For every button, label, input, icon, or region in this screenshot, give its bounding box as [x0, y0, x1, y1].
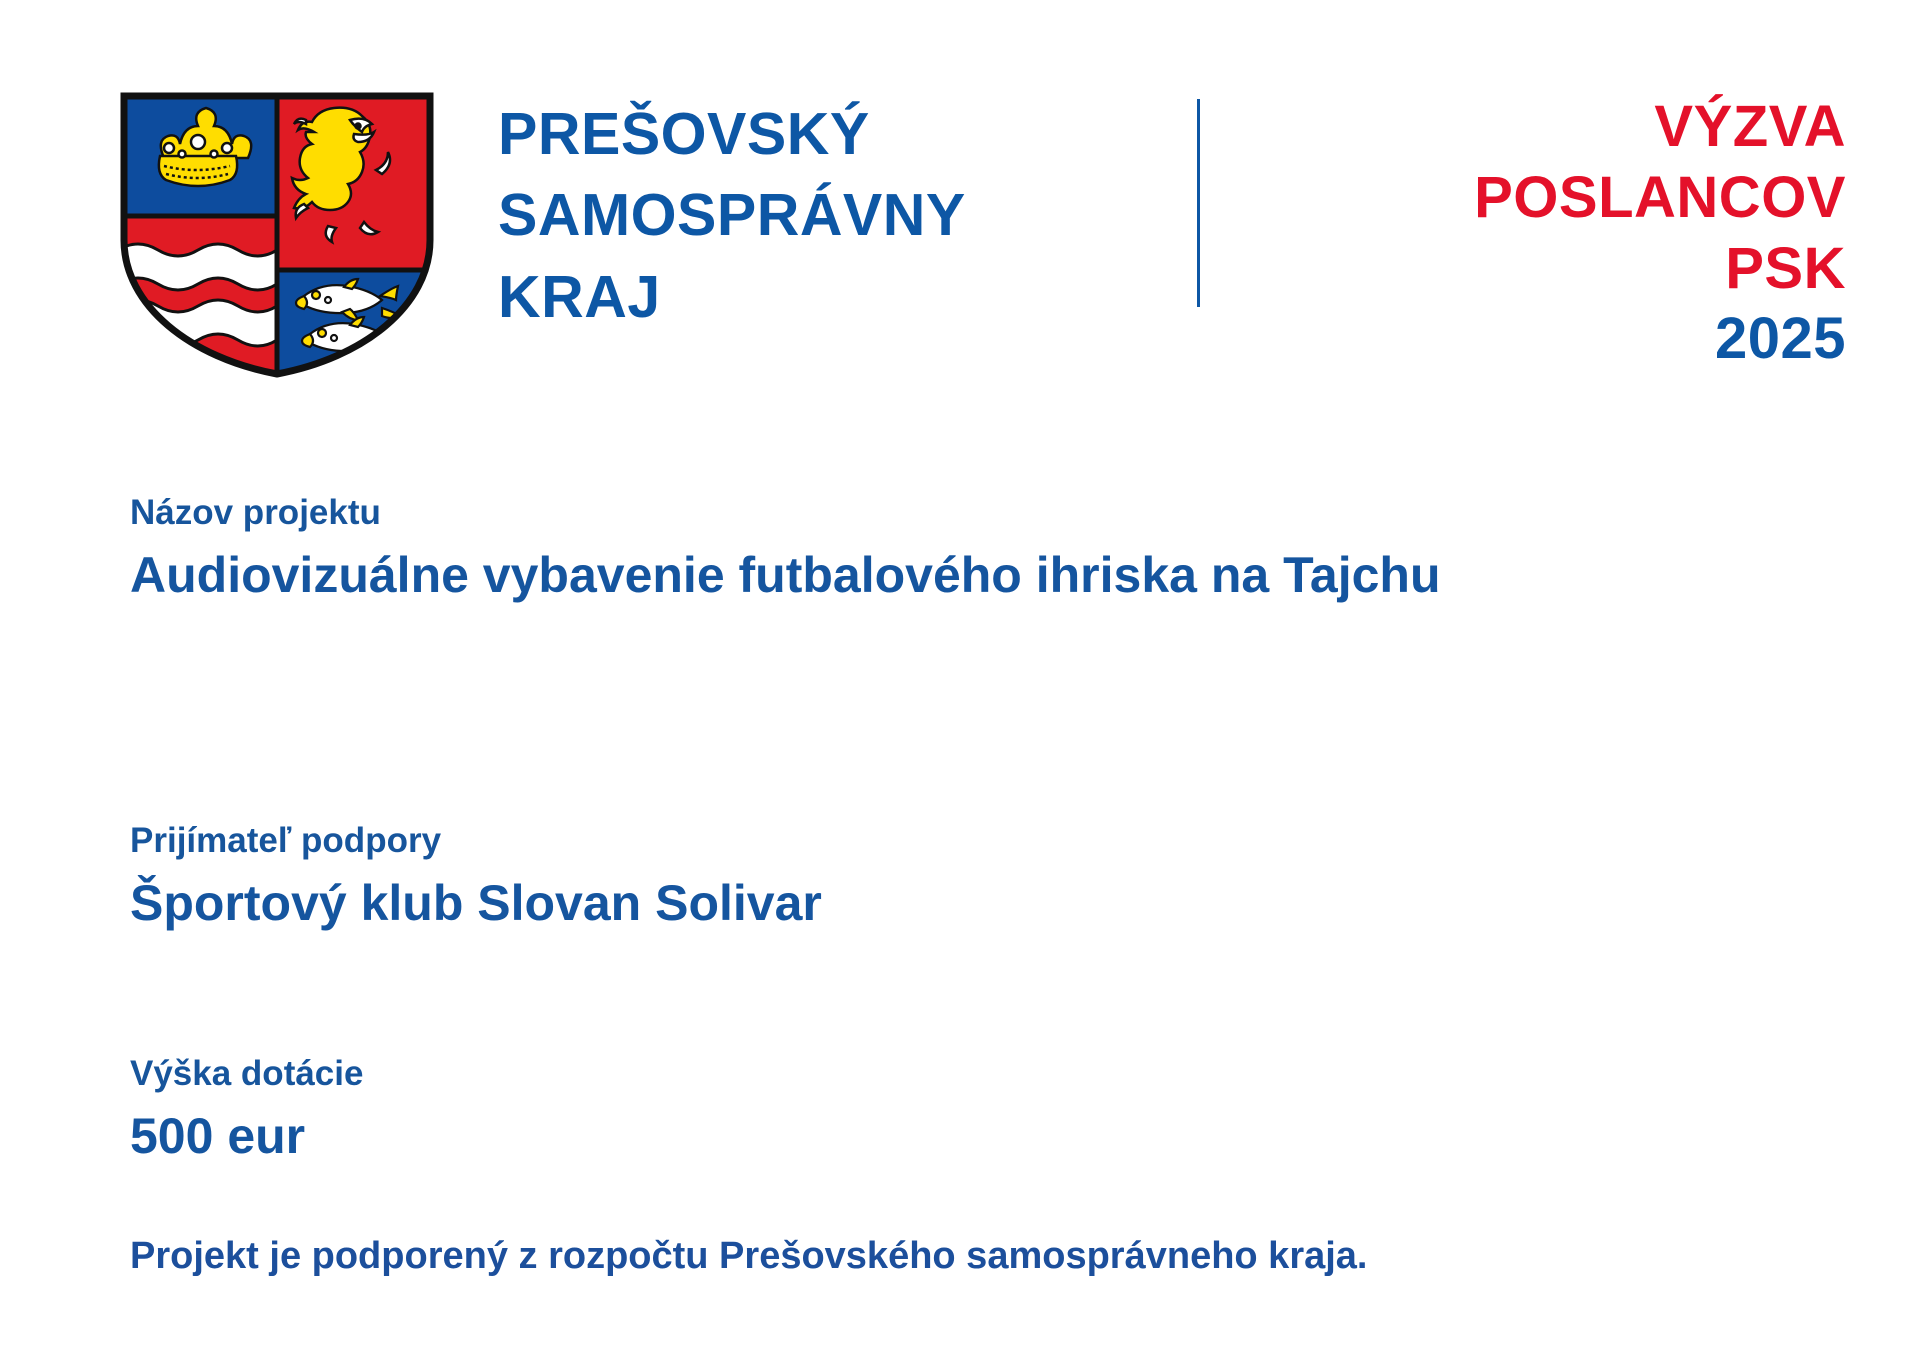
call-year: 2025: [1246, 304, 1846, 375]
field-project: Názov projektu Audiovizuálne vybavenie f…: [130, 494, 1441, 611]
field-amount: Výška dotácie 500 eur: [130, 1055, 363, 1172]
organisation-name-line-3: KRAJ: [498, 257, 1158, 338]
call-title-line-1: VÝZVA: [1246, 92, 1846, 163]
header-divider: [1197, 99, 1200, 307]
field-amount-label: Výška dotácie: [130, 1055, 363, 1094]
field-recipient: Prijímateľ podpory Športový klub Slovan …: [130, 822, 822, 939]
field-project-value: Audiovizuálne vybavenie futbalového ihri…: [130, 539, 1441, 612]
organisation-name-line-1: PREŠOVSKÝ: [498, 94, 1158, 175]
field-recipient-value: Športový klub Slovan Solivar: [130, 867, 822, 940]
field-recipient-label: Prijímateľ podpory: [130, 822, 822, 861]
poster-header: PREŠOVSKÝ SAMOSPRÁVNY KRAJ VÝZVA POSLANC…: [0, 0, 1920, 400]
field-amount-value: 500 eur: [130, 1100, 363, 1173]
presov-region-coat-of-arms: [118, 90, 436, 380]
funding-footnote: Projekt je podporený z rozpočtu Prešovsk…: [130, 1234, 1368, 1280]
call-title-block: VÝZVA POSLANCOV PSK 2025: [1246, 92, 1846, 375]
organisation-name-line-2: SAMOSPRÁVNY: [498, 175, 1158, 256]
call-title-line-3: PSK: [1246, 234, 1846, 305]
field-project-label: Názov projektu: [130, 494, 1441, 533]
poster-page: PREŠOVSKÝ SAMOSPRÁVNY KRAJ VÝZVA POSLANC…: [0, 0, 1920, 1357]
organisation-name: PREŠOVSKÝ SAMOSPRÁVNY KRAJ: [498, 94, 1158, 338]
call-title-line-2: POSLANCOV: [1246, 163, 1846, 234]
